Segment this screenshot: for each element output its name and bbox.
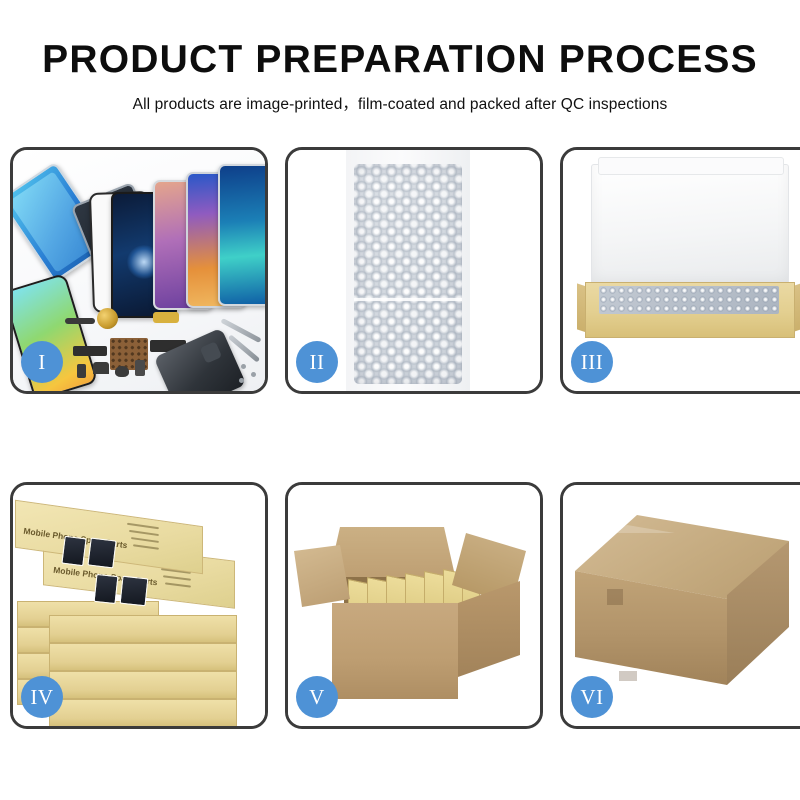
box-lid — [591, 164, 789, 290]
carton-flap-left — [294, 545, 350, 607]
product-preparation-page: PRODUCT PREPARATION PROCESS All products… — [0, 0, 800, 800]
process-step-3[interactable]: III — [560, 147, 800, 394]
step-badge-2: II — [296, 341, 338, 383]
stacked-box — [49, 615, 237, 643]
stacked-box — [49, 643, 237, 671]
carton-handle-tab — [607, 589, 623, 605]
step-badge-4: IV — [21, 676, 63, 718]
bracket-part — [93, 362, 109, 374]
process-step-4[interactable]: Mobile Phone Spare Parts Mobile Phone Sp… — [10, 482, 268, 729]
flex-cable-left — [73, 346, 107, 356]
stacked-box — [49, 671, 237, 699]
screw-part — [251, 372, 256, 377]
page-title: PRODUCT PREPARATION PROCESS — [0, 40, 800, 79]
carton-bottom-tab — [619, 671, 637, 681]
copper-coil-part — [97, 308, 118, 329]
step-badge-1: I — [21, 341, 63, 383]
battery-connector-part — [135, 360, 145, 376]
page-header: PRODUCT PREPARATION PROCESS All products… — [0, 0, 800, 114]
sim-tray-part — [77, 364, 86, 378]
box-screen-image — [94, 574, 119, 604]
flex-cable-strip — [65, 318, 95, 324]
screw-part — [239, 378, 244, 383]
gold-connector-part — [153, 312, 179, 323]
box-screen-image — [120, 576, 149, 607]
step-badge-5: V — [296, 676, 338, 718]
stacked-box — [49, 699, 237, 726]
process-grid: I II III — [10, 147, 790, 729]
carton-front-face — [332, 603, 458, 699]
bubble-wrap-seam — [354, 298, 462, 301]
process-step-1[interactable]: I — [10, 147, 268, 394]
box-screen-image — [87, 538, 116, 569]
screw-part — [241, 364, 246, 369]
process-step-5[interactable]: V — [285, 482, 543, 729]
phone-screen-teal — [218, 164, 265, 306]
speaker-part — [115, 366, 129, 377]
step-badge-6: VI — [571, 676, 613, 718]
step-badge-3: III — [571, 341, 613, 383]
inner-bubble-wrap — [599, 286, 779, 314]
process-step-6[interactable]: VI — [560, 482, 800, 729]
box-screen-image — [61, 536, 86, 566]
bubble-wrap-sheet — [354, 164, 462, 384]
page-subtitle: All products are image-printed，film-coat… — [0, 92, 800, 114]
process-step-2[interactable]: II — [285, 147, 543, 394]
